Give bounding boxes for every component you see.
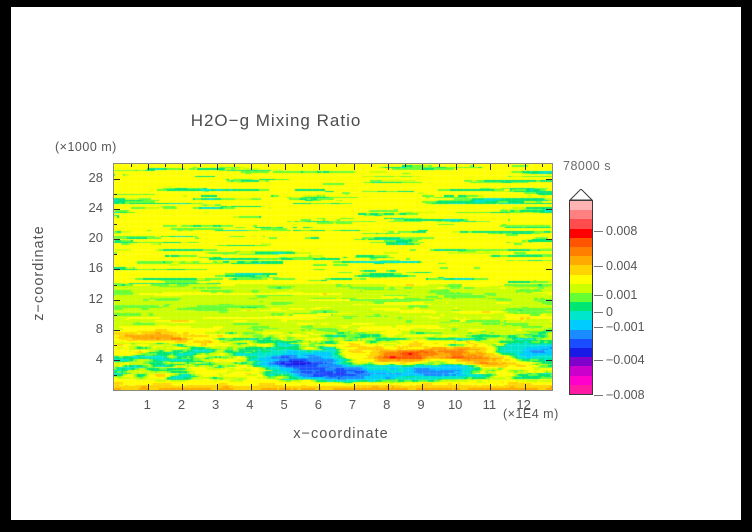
colorbar-segment bbox=[570, 385, 592, 394]
y-axis-unit-label: (×1000 m) bbox=[55, 140, 117, 154]
x-minor-tick-top bbox=[473, 164, 474, 167]
colorbar-tick bbox=[594, 295, 603, 296]
y-tick-right bbox=[546, 360, 552, 361]
colorbar-segment bbox=[570, 256, 592, 265]
y-minor-tick bbox=[114, 285, 117, 286]
y-tick bbox=[114, 239, 120, 240]
colorbar-segment bbox=[570, 320, 592, 329]
x-ticklabel: 5 bbox=[269, 397, 299, 412]
x-tick bbox=[217, 384, 218, 390]
x-tick bbox=[354, 384, 355, 390]
x-ticklabel: 6 bbox=[303, 397, 333, 412]
x-tick bbox=[490, 384, 491, 390]
colorbar-segment bbox=[570, 275, 592, 284]
timestamp-label: 78000 s bbox=[563, 159, 611, 173]
colorbar-segment bbox=[570, 293, 592, 302]
colorbar-segment bbox=[570, 238, 592, 247]
colorbar-segment bbox=[570, 219, 592, 228]
colorbar-segment bbox=[570, 376, 592, 385]
x-tick bbox=[456, 384, 457, 390]
colorbar-tick bbox=[594, 327, 603, 328]
y-tick bbox=[114, 269, 120, 270]
figure-window: H2O−g Mixing Ratio (×1000 m) 78000 s 123… bbox=[0, 0, 752, 532]
colorbar-label: 0.001 bbox=[606, 288, 637, 302]
x-minor-tick-top bbox=[371, 164, 372, 167]
x-tick bbox=[525, 384, 526, 390]
y-tick-right bbox=[546, 209, 552, 210]
colorbar-segment bbox=[570, 339, 592, 348]
x-ticklabel: 11 bbox=[474, 397, 504, 412]
x-tick bbox=[251, 384, 252, 390]
y-ticklabel: 28 bbox=[69, 170, 103, 185]
contour-field bbox=[114, 164, 552, 390]
x-tick-top bbox=[388, 164, 389, 170]
y-tick-right bbox=[546, 269, 552, 270]
colorbar-label: −0.001 bbox=[606, 320, 645, 334]
y-minor-tick bbox=[114, 224, 117, 225]
colorbar-segment bbox=[570, 265, 592, 274]
y-ticklabel: 24 bbox=[69, 200, 103, 215]
y-minor-tick bbox=[114, 315, 117, 316]
colorbar-segment bbox=[570, 330, 592, 339]
x-ticklabel: 8 bbox=[372, 397, 402, 412]
x-minor-tick-top bbox=[405, 164, 406, 167]
colorbar-segment bbox=[570, 247, 592, 256]
y-ticklabel: 12 bbox=[69, 291, 103, 306]
y-ticklabel: 8 bbox=[69, 321, 103, 336]
x-tick-top bbox=[251, 164, 252, 170]
x-minor-tick-top bbox=[302, 164, 303, 167]
x-tick bbox=[319, 384, 320, 390]
y-ticklabel: 16 bbox=[69, 260, 103, 275]
x-minor-tick-top bbox=[336, 164, 337, 167]
y-tick bbox=[114, 360, 120, 361]
y-minor-tick bbox=[114, 194, 117, 195]
x-minor-tick-top bbox=[542, 164, 543, 167]
x-tick-top bbox=[490, 164, 491, 170]
y-minor-tick bbox=[114, 375, 117, 376]
y-tick bbox=[114, 330, 120, 331]
x-ticklabel: 9 bbox=[406, 397, 436, 412]
x-tick-top bbox=[217, 164, 218, 170]
colorbar-tick bbox=[594, 395, 603, 396]
y-tick bbox=[114, 179, 120, 180]
y-tick-right bbox=[546, 330, 552, 331]
x-minor-tick-top bbox=[439, 164, 440, 167]
y-axis-title: z−coordinate bbox=[31, 193, 47, 353]
x-tick-top bbox=[456, 164, 457, 170]
figure-canvas: H2O−g Mixing Ratio (×1000 m) 78000 s 123… bbox=[11, 7, 741, 520]
x-minor-tick-top bbox=[131, 164, 132, 167]
colorbar-segment bbox=[570, 357, 592, 366]
y-tick-right bbox=[546, 239, 552, 240]
colorbar-label: −0.004 bbox=[606, 353, 645, 367]
x-ticklabel: 10 bbox=[440, 397, 470, 412]
y-tick-right bbox=[546, 300, 552, 301]
colorbar-segment bbox=[570, 210, 592, 219]
x-tick bbox=[182, 384, 183, 390]
colorbar-gradient bbox=[569, 200, 593, 395]
colorbar-segment bbox=[570, 201, 592, 210]
colorbar-segment bbox=[570, 348, 592, 357]
y-tick bbox=[114, 209, 120, 210]
colorbar-tick bbox=[594, 312, 603, 313]
x-tick-top bbox=[182, 164, 183, 170]
x-minor-tick-top bbox=[508, 164, 509, 167]
y-ticklabel: 20 bbox=[69, 230, 103, 245]
x-tick-top bbox=[285, 164, 286, 170]
x-minor-tick-top bbox=[234, 164, 235, 167]
x-ticklabel: 7 bbox=[338, 397, 368, 412]
y-tick bbox=[114, 300, 120, 301]
colorbar-segment bbox=[570, 311, 592, 320]
colorbar-label: 0.004 bbox=[606, 259, 637, 273]
colorbar-segment bbox=[570, 302, 592, 311]
x-tick-top bbox=[148, 164, 149, 170]
colorbar-tick bbox=[594, 360, 603, 361]
x-minor-tick-top bbox=[165, 164, 166, 167]
x-tick bbox=[388, 384, 389, 390]
page-title: H2O−g Mixing Ratio bbox=[11, 111, 541, 131]
x-ticklabel: 1 bbox=[132, 397, 162, 412]
colorbar-segment bbox=[570, 284, 592, 293]
x-tick-top bbox=[319, 164, 320, 170]
x-ticklabel: 2 bbox=[166, 397, 196, 412]
x-tick bbox=[422, 384, 423, 390]
y-minor-tick bbox=[114, 254, 117, 255]
colorbar-segment bbox=[570, 366, 592, 375]
x-axis-title: x−coordinate bbox=[191, 426, 491, 442]
colorbar-tick bbox=[594, 266, 603, 267]
y-ticklabel: 4 bbox=[69, 351, 103, 366]
x-ticklabel: 3 bbox=[201, 397, 231, 412]
x-tick-top bbox=[525, 164, 526, 170]
colorbar-label: 0 bbox=[606, 305, 613, 319]
x-minor-tick-top bbox=[200, 164, 201, 167]
x-tick bbox=[285, 384, 286, 390]
colorbar-tick bbox=[594, 231, 603, 232]
colorbar-label: 0.008 bbox=[606, 224, 637, 238]
x-tick-top bbox=[422, 164, 423, 170]
colorbar-segment bbox=[570, 229, 592, 238]
x-minor-tick-top bbox=[268, 164, 269, 167]
x-tick bbox=[148, 384, 149, 390]
x-axis-unit-label: (×1E4 m) bbox=[503, 407, 559, 421]
y-minor-tick bbox=[114, 345, 117, 346]
x-ticklabel: 4 bbox=[235, 397, 265, 412]
colorbar-label: −0.008 bbox=[606, 388, 645, 402]
y-tick-right bbox=[546, 179, 552, 180]
plot-area[interactable] bbox=[113, 163, 553, 391]
x-tick-top bbox=[354, 164, 355, 170]
